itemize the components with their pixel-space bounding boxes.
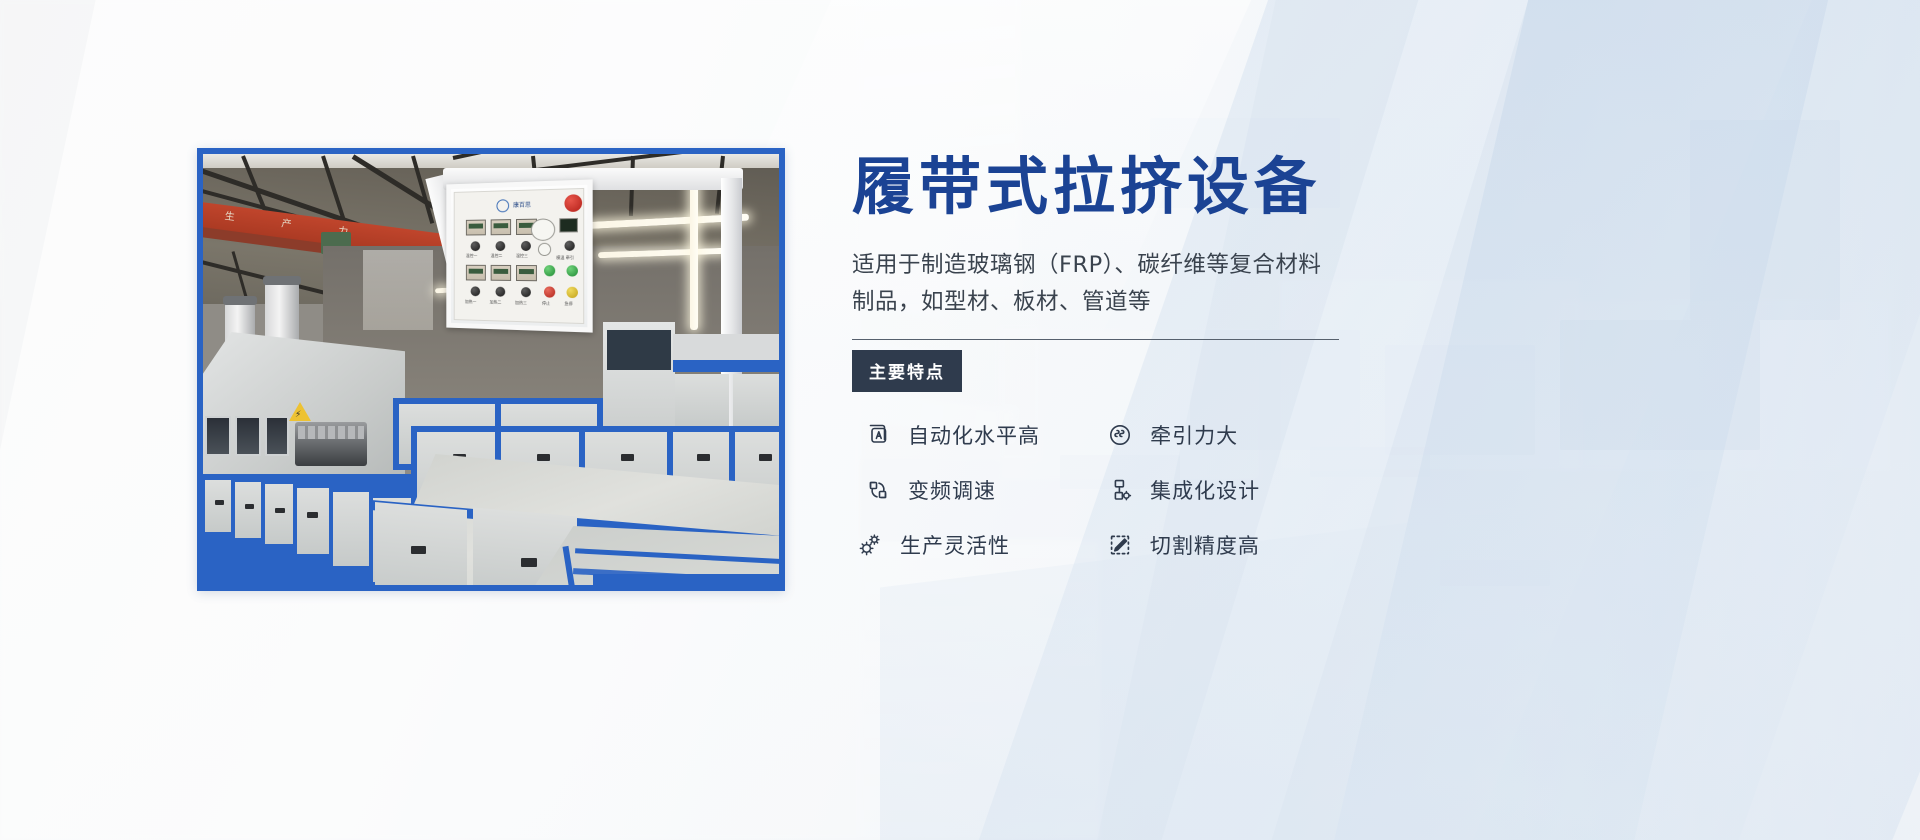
feature-item-automation[interactable]: 自动化水平高 [852,420,1106,450]
feature-item-frequency[interactable]: 变频调速 [852,475,1106,505]
feature-row: 生产灵活性 切割精度高 [852,530,1352,560]
feature-item-flexibility[interactable]: 生产灵活性 [852,530,1106,560]
panel-brand: 康百思 [513,200,531,209]
automation-a-icon [864,421,892,449]
feature-list: 自动化水平高 牵引力大 [852,420,1352,560]
feature-label: 切割精度高 [1150,530,1260,560]
integrated-design-icon [1106,476,1134,504]
gears-flexibility-icon [856,531,884,559]
divider [852,339,1339,340]
banner-content: 履带式拉挤设备 适用于制造玻璃钢（FRP）、碳纤维等复合材料制品，如型材、板材、… [852,150,1412,585]
promo-banner: 生 产 力 康百思 [0,0,1920,840]
machine-control-panel: 康百思 温控一 温控二 温控三 模温 牵引 [446,179,592,332]
banner-subtitle: 适用于制造玻璃钢（FRP）、碳纤维等复合材料制品，如型材、板材、管道等 [852,247,1339,320]
feature-item-traction[interactable]: 牵引力大 [1106,420,1352,450]
cutting-precision-icon [1106,531,1134,559]
product-photo: 生 产 力 康百思 [203,154,779,585]
emergency-stop-button [564,194,582,212]
frequency-speed-icon [864,476,892,504]
traction-force-icon [1106,421,1134,449]
feature-row: 自动化水平高 牵引力大 [852,420,1352,450]
feature-label: 生产灵活性 [900,530,1010,560]
feature-row: 变频调速 集成化设计 [852,475,1352,505]
status-badge: 主要特点 [852,350,962,392]
feature-item-integrated[interactable]: 集成化设计 [1106,475,1352,505]
feature-item-cutting[interactable]: 切割精度高 [1106,530,1352,560]
feature-label: 集成化设计 [1150,475,1260,505]
feature-label: 变频调速 [908,475,996,505]
feature-label: 自动化水平高 [908,420,1040,450]
page-title: 履带式拉挤设备 [852,150,1412,223]
product-photo-card[interactable]: 生 产 力 康百思 [197,148,785,591]
feature-label: 牵引力大 [1150,420,1238,450]
